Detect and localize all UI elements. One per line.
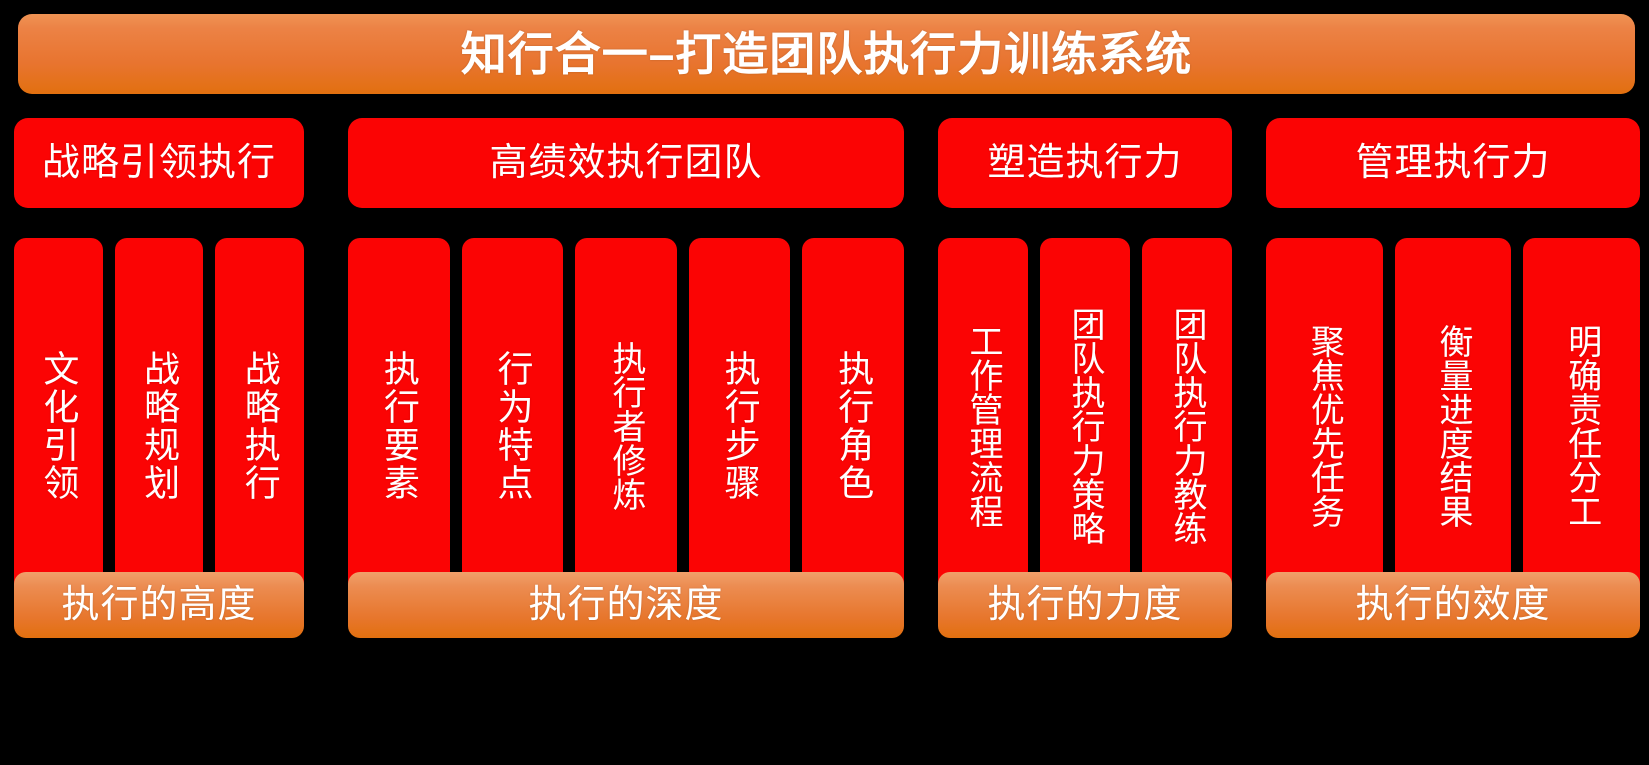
column-item[interactable]: 团队执行力教练 (1142, 238, 1232, 613)
column-label: 团队执行力策略 (1067, 307, 1103, 545)
diagram-title-bar: 知行合一–打造团队执行力训练系统 (18, 14, 1635, 94)
group-footer-1[interactable]: 执行的深度 (348, 572, 904, 638)
column-label: 聚焦优先任务 (1306, 324, 1342, 528)
column-item[interactable]: 行为特点 (462, 238, 564, 613)
group-columns-2: 工作管理流程 团队执行力策略 团队执行力教练 (938, 238, 1232, 613)
group-header-3[interactable]: 管理执行力 (1266, 118, 1640, 208)
group-header-label-3: 管理执行力 (1355, 144, 1550, 182)
group-footer-label-0: 执行的高度 (61, 586, 256, 624)
column-item[interactable]: 聚焦优先任务 (1266, 238, 1383, 613)
column-label: 团队执行力教练 (1169, 307, 1205, 545)
column-label: 明确责任分工 (1564, 324, 1600, 528)
column-item[interactable]: 工作管理流程 (938, 238, 1028, 613)
group-header-label-1: 高绩效执行团队 (489, 144, 762, 182)
group-header-label-0: 战略引领执行 (42, 144, 276, 182)
column-item[interactable]: 执行要素 (348, 238, 450, 613)
column-item[interactable]: 团队执行力策略 (1040, 238, 1130, 613)
group-footer-label-1: 执行的深度 (528, 586, 723, 624)
column-item[interactable]: 执行者修炼 (575, 238, 677, 613)
column-label: 执行者修炼 (608, 341, 644, 511)
column-item[interactable]: 战略执行 (215, 238, 304, 613)
column-label: 战略执行 (241, 350, 279, 502)
group-footer-label-3: 执行的效度 (1355, 586, 1550, 624)
group-footer-label-2: 执行的力度 (987, 586, 1182, 624)
group-columns-1: 执行要素 行为特点 执行者修炼 执行步骤 执行角色 (348, 238, 904, 613)
group-container: 战略引领执行 文化引领 战略规划 战略执行 执行的高度 高绩效执行团队 (0, 118, 1649, 638)
column-item[interactable]: 衡量进度结果 (1395, 238, 1512, 613)
group-columns-0: 文化引领 战略规划 战略执行 (14, 238, 304, 613)
column-label: 衡量进度结果 (1435, 324, 1471, 528)
column-item[interactable]: 明确责任分工 (1523, 238, 1640, 613)
group-footer-3[interactable]: 执行的效度 (1266, 572, 1640, 638)
column-label: 执行要素 (380, 350, 418, 502)
group-header-2[interactable]: 塑造执行力 (938, 118, 1232, 208)
diagram-canvas: 知行合一–打造团队执行力训练系统 战略引领执行 文化引领 战略规划 战略执行 执… (0, 0, 1649, 765)
group-footer-2[interactable]: 执行的力度 (938, 572, 1232, 638)
column-label: 工作管理流程 (965, 324, 1001, 528)
group-header-1[interactable]: 高绩效执行团队 (348, 118, 904, 208)
group-footer-0[interactable]: 执行的高度 (14, 572, 304, 638)
group-strategy-leads-execution: 战略引领执行 文化引领 战略规划 战略执行 执行的高度 (14, 118, 304, 638)
group-header-0[interactable]: 战略引领执行 (14, 118, 304, 208)
group-columns-3: 聚焦优先任务 衡量进度结果 明确责任分工 (1266, 238, 1640, 613)
column-label: 行为特点 (493, 350, 531, 502)
group-manage-execution: 管理执行力 聚焦优先任务 衡量进度结果 明确责任分工 执行的效度 (1266, 118, 1640, 638)
column-label: 文化引领 (39, 350, 77, 502)
column-item[interactable]: 执行步骤 (689, 238, 791, 613)
diagram-title: 知行合一–打造团队执行力训练系统 (461, 31, 1193, 77)
group-header-label-2: 塑造执行力 (987, 144, 1182, 182)
group-high-performance-team: 高绩效执行团队 执行要素 行为特点 执行者修炼 执行步骤 执行角色 (348, 118, 904, 638)
column-item[interactable]: 执行角色 (802, 238, 904, 613)
column-label: 战略规划 (140, 350, 178, 502)
column-item[interactable]: 文化引领 (14, 238, 103, 613)
group-shape-execution: 塑造执行力 工作管理流程 团队执行力策略 团队执行力教练 执行的力度 (938, 118, 1232, 638)
column-label: 执行角色 (834, 350, 872, 502)
column-item[interactable]: 战略规划 (115, 238, 204, 613)
column-label: 执行步骤 (721, 350, 759, 502)
